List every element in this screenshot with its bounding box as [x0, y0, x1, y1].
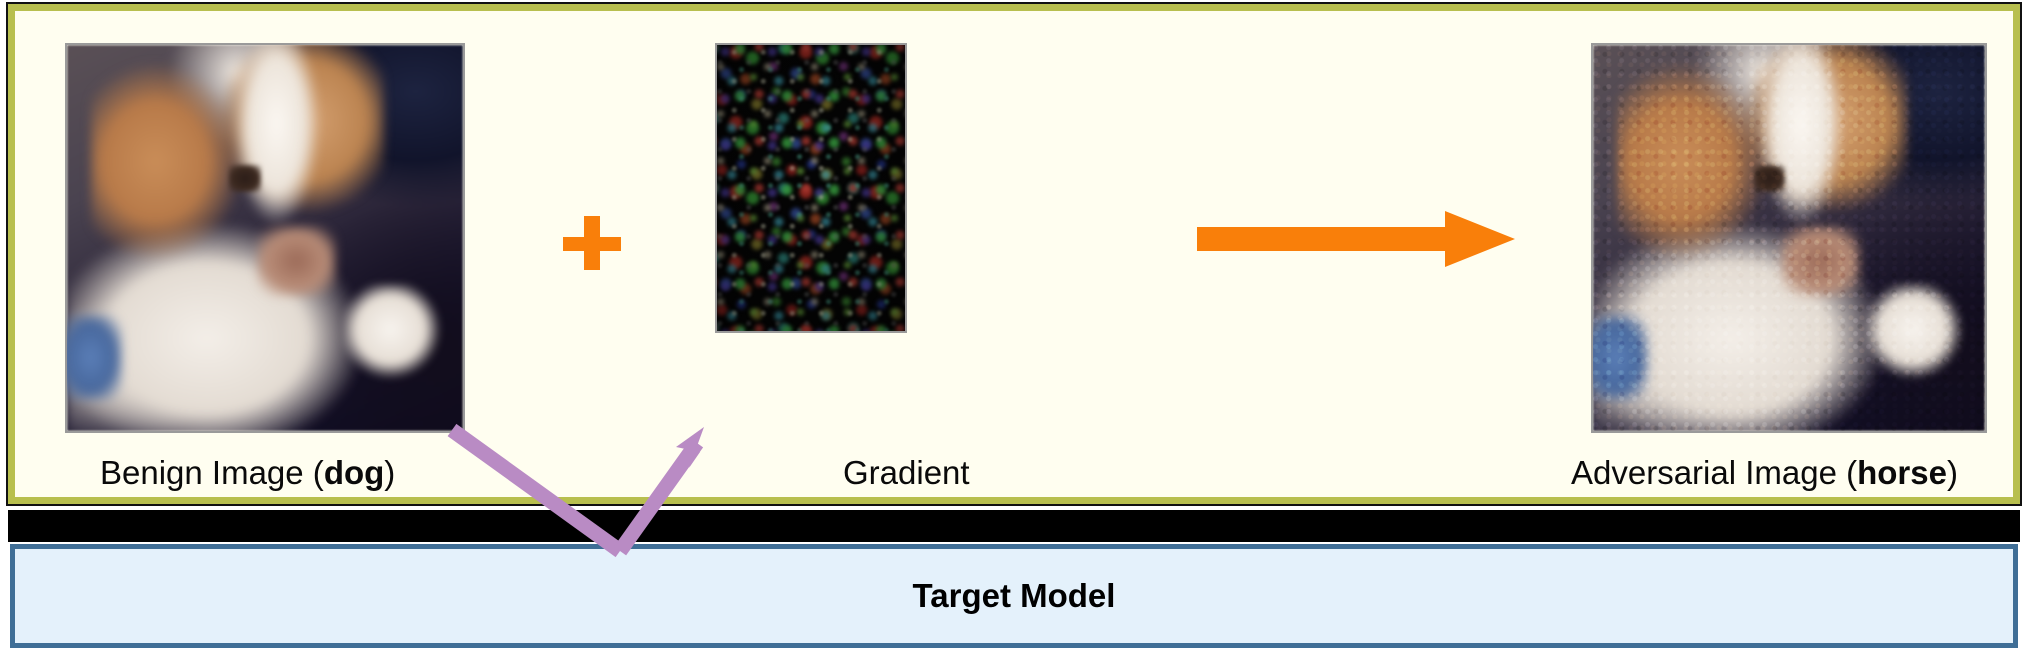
- adversarial-caption-label: horse: [1857, 454, 1947, 491]
- gradient-image: [715, 43, 907, 333]
- adversarial-caption-prefix: Adversarial Image (: [1571, 454, 1857, 491]
- dog-muzzle: [257, 226, 336, 295]
- dog-paw: [344, 284, 447, 384]
- gradient-image-caption: Gradient: [843, 454, 970, 492]
- plus-vertical-bar: [584, 216, 599, 270]
- dog-blaze: [225, 43, 328, 230]
- adversarial-perturbation-overlay: [1593, 45, 1985, 431]
- adversarial-image: [1591, 43, 1987, 433]
- benign-image-content: [67, 45, 463, 431]
- benign-image-caption: Benign Image (dog): [100, 454, 395, 492]
- target-model-label: Target Model: [913, 577, 1116, 615]
- attack-pipeline-panel: Benign Image (dog) Gradient Adversarial …: [8, 4, 2020, 504]
- benign-caption-label: dog: [324, 454, 384, 491]
- adversarial-caption-suffix: ): [1947, 454, 1958, 491]
- transform-arrow-shape: [1197, 211, 1515, 267]
- dog-eye: [229, 165, 261, 192]
- gradient-image-content: [717, 45, 905, 331]
- benign-image: [65, 43, 465, 433]
- gradient-vignette: [717, 45, 905, 331]
- target-model-panel: Target Model: [10, 544, 2018, 648]
- adversarial-image-caption: Adversarial Image (horse): [1571, 454, 1958, 492]
- adversarial-image-content: [1593, 45, 1985, 431]
- benign-caption-prefix: Benign Image (: [100, 454, 324, 491]
- plus-operator-icon: [563, 216, 621, 270]
- dog-collar: [65, 315, 122, 400]
- separator-bar: [8, 510, 2020, 542]
- adversarial-attack-figure: Benign Image (dog) Gradient Adversarial …: [0, 0, 2028, 656]
- transform-arrow-icon: [1197, 209, 1515, 269]
- benign-caption-suffix: ): [384, 454, 395, 491]
